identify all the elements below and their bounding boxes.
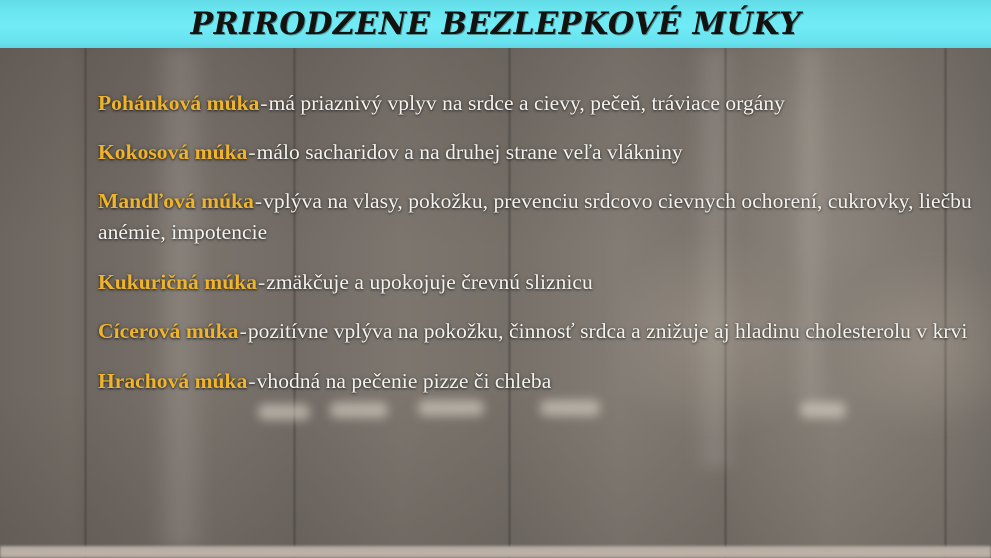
cabinet-seam: [84, 48, 87, 558]
counter-band: [0, 546, 991, 558]
list-item: Kokosová múka-málo sacharidov a na druhe…: [98, 137, 984, 168]
flour-name: Pohánková múka: [98, 91, 259, 115]
flour-description: má priaznivý vplyv na srdce a cievy, peč…: [269, 91, 785, 115]
flour-name: Hrachová múka: [98, 369, 247, 393]
flour-name: Kukuričná múka: [98, 270, 257, 294]
separator: -: [254, 189, 263, 213]
flour-list: Pohánková múka-má priaznivý vplyv na srd…: [98, 88, 984, 415]
flour-name: Cícerová múka: [98, 319, 239, 343]
list-item: Cícerová múka-pozitívne vplýva na pokožk…: [98, 316, 984, 347]
page-title: PRIRODZENE BEZLEPKOVÉ MÚKY: [190, 6, 801, 42]
flour-description: zmäkčuje a upokojuje črevnú sliznicu: [266, 270, 593, 294]
flour-name: Kokosová múka: [98, 140, 247, 164]
flour-name: Mandľová múka: [98, 189, 254, 213]
slide-root: PRIRODZENE BEZLEPKOVÉ MÚKY Pohánková múk…: [0, 0, 991, 558]
separator: -: [247, 140, 256, 164]
list-item: Hrachová múka-vhodná na pečenie pizze či…: [98, 366, 984, 397]
separator: -: [247, 369, 256, 393]
flour-description: pozitívne vplýva na pokožku, činnosť srd…: [248, 319, 968, 343]
separator: -: [239, 319, 248, 343]
flour-description: vhodná na pečenie pizze či chleba: [257, 369, 552, 393]
separator: -: [259, 91, 268, 115]
list-item: Pohánková múka-má priaznivý vplyv na srd…: [98, 88, 984, 119]
separator: -: [257, 270, 266, 294]
flour-description: málo sacharidov a na druhej strane veľa …: [257, 140, 683, 164]
list-item: Kukuričná múka-zmäkčuje a upokojuje črev…: [98, 267, 984, 298]
list-item: Mandľová múka-vplýva na vlasy, pokožku, …: [98, 186, 984, 248]
title-bar: PRIRODZENE BEZLEPKOVÉ MÚKY: [0, 0, 991, 48]
